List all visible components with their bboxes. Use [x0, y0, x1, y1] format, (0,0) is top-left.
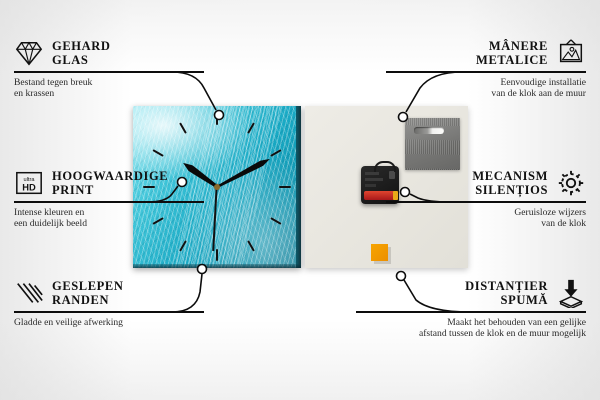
- beveled-edges-icon: [14, 278, 44, 308]
- svg-text:HD: HD: [22, 183, 36, 193]
- feature-title-line1: GEHARD: [52, 39, 110, 53]
- feature-title-line2: SPUMĂ: [465, 293, 548, 307]
- framed-picture-icon: [556, 38, 586, 68]
- feature-header: MÂNERE METALICE: [386, 38, 586, 68]
- feature-rule: [14, 311, 204, 313]
- feature-title-line2: PRINT: [52, 183, 168, 197]
- feature-header: MECANISM SILENȚIOS: [386, 168, 586, 198]
- feature-title-line1: DISTANȚIER: [465, 279, 548, 293]
- feature-subtitle-line1: Eenvoudige installatie: [386, 77, 586, 89]
- feature-rule: [386, 201, 586, 203]
- feature-subtitle-line2: van de klok aan de muur: [386, 88, 586, 100]
- feature-title-line2: RANDEN: [52, 293, 124, 307]
- feature-header: ultra HD HOOGWAARDIGE PRINT: [14, 168, 204, 198]
- feature-rule: [14, 201, 204, 203]
- feature-subtitle-line1: Bestand tegen breuk: [14, 77, 204, 89]
- feature-title-line1: HOOGWAARDIGE: [52, 169, 168, 183]
- feature-geslepen-randen[interactable]: GESLEPEN RANDEN Gladde en veilige afwerk…: [14, 278, 204, 328]
- feature-subtitle-line2: en krassen: [14, 88, 204, 100]
- feature-subtitle-line2: afstand tussen de klok en de muur mogeli…: [356, 328, 586, 340]
- feature-rule: [14, 71, 204, 73]
- feature-manere-metalice[interactable]: MÂNERE METALICE Eenvoudige installatie v…: [386, 38, 586, 100]
- feature-subtitle-line1: Geruisloze wijzers: [386, 207, 586, 219]
- feature-title-line1: GESLEPEN: [52, 279, 124, 293]
- feature-subtitle-line1: Maakt het behouden van een gelijke: [356, 317, 586, 329]
- feature-title-line1: MÂNERE: [476, 39, 548, 53]
- gear-icon: [556, 168, 586, 198]
- feature-subtitle-line2: een duidelijk beeld: [14, 218, 204, 230]
- foam-spacer-icon: [556, 278, 586, 308]
- feature-mecanism-silentios[interactable]: MECANISM SILENȚIOS Geruisloze wijzers va…: [386, 168, 586, 230]
- feature-subtitle-line1: Gladde en veilige afwerking: [14, 317, 204, 329]
- feature-header: GESLEPEN RANDEN: [14, 278, 204, 308]
- diamond-icon: [14, 38, 44, 68]
- feature-rule: [386, 71, 586, 73]
- feature-header: DISTANȚIER SPUMĂ: [356, 278, 586, 308]
- feature-subtitle-line1: Intense kleuren en: [14, 207, 204, 219]
- feature-title-line2: SILENȚIOS: [472, 183, 548, 197]
- feature-title-line1: MECANISM: [472, 169, 548, 183]
- infographic-canvas: GEHARD GLAS Bestand tegen breuk en krass…: [0, 0, 600, 400]
- feature-subtitle-line2: van de klok: [386, 218, 586, 230]
- ultra-hd-icon: ultra HD: [14, 168, 44, 198]
- feature-gehard-glas[interactable]: GEHARD GLAS Bestand tegen breuk en krass…: [14, 38, 204, 100]
- feature-title-line2: GLAS: [52, 53, 110, 67]
- feature-rule: [356, 311, 586, 313]
- feature-header: GEHARD GLAS: [14, 38, 204, 68]
- feature-hoogwaardige-print[interactable]: ultra HD HOOGWAARDIGE PRINT Intense kleu…: [14, 168, 204, 230]
- feature-distantier-spuma[interactable]: DISTANȚIER SPUMĂ Maakt het behouden van …: [356, 278, 586, 340]
- feature-title-line2: METALICE: [476, 53, 548, 67]
